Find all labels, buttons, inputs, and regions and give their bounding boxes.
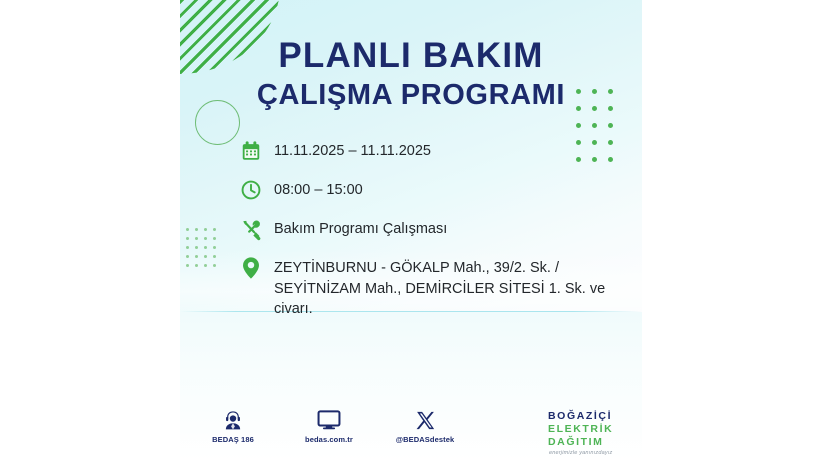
info-row-work-type: Bakım Programı Çalışması	[238, 216, 638, 242]
info-row-time: 08:00 – 15:00	[238, 177, 638, 203]
location-text: ZEYTİNBURNU - GÖKALP Mah., 39/2. Sk. / S…	[274, 255, 638, 320]
brand-line-2: ELEKTRİK	[548, 423, 613, 436]
tools-icon	[238, 216, 264, 242]
dot	[186, 264, 189, 267]
dot	[213, 264, 216, 267]
location-text-line-2: SEYİTNİZAM Mah., DEMİRCİLER SİTESİ 1. Sk…	[274, 279, 638, 320]
dot	[204, 255, 207, 258]
bedas-logo: BOĞAZİÇİ ELEKTRİK DAĞITIM enerjimizle ya…	[548, 410, 613, 456]
headset-agent-icon	[198, 405, 268, 431]
dot	[195, 237, 198, 240]
dot	[195, 255, 198, 258]
poster-heading: PLANLI BAKIM ÇALIŞMA PROGRAMI	[180, 38, 642, 113]
dot	[213, 246, 216, 249]
dot	[204, 228, 207, 231]
title-line-2: ÇALIŞMA PROGRAMI	[180, 77, 642, 113]
contact-x-label: @BEDASdestek	[390, 435, 460, 444]
contact-website-label: bedas.com.tr	[294, 435, 364, 444]
contact-x-handle[interactable]: @BEDASdestek	[390, 405, 460, 444]
dot-grid-left-decoration	[186, 228, 222, 273]
time-range-text: 08:00 – 15:00	[274, 177, 363, 201]
dot	[195, 246, 198, 249]
dot	[204, 264, 207, 267]
dot	[204, 237, 207, 240]
dot	[608, 123, 613, 128]
date-range-text: 11.11.2025 – 11.11.2025	[274, 138, 431, 162]
contact-phone-label: BEDAŞ 186	[198, 435, 268, 444]
dot	[204, 246, 207, 249]
work-type-text: Bakım Programı Çalışması	[274, 216, 447, 240]
dot	[186, 246, 189, 249]
contact-phone[interactable]: BEDAŞ 186	[198, 405, 268, 444]
dot	[186, 255, 189, 258]
brand-tagline: enerjimizle yanınızdayız	[549, 450, 613, 456]
info-row-date: 11.11.2025 – 11.11.2025	[238, 138, 638, 164]
dot	[195, 228, 198, 231]
planned-maintenance-poster: PLANLI BAKIM ÇALIŞMA PROGRAMI	[180, 0, 642, 461]
monitor-icon	[294, 405, 364, 431]
contact-website[interactable]: bedas.com.tr	[294, 405, 364, 444]
dot	[592, 123, 597, 128]
brand-line-1: BOĞAZİÇİ	[548, 410, 613, 423]
brand-line-3: DAĞITIM	[548, 436, 613, 449]
dot	[576, 123, 581, 128]
dot	[213, 255, 216, 258]
clock-icon	[238, 177, 264, 203]
info-list: 11.11.2025 – 11.11.2025 08:00 – 15:00	[238, 138, 638, 333]
dot	[186, 228, 189, 231]
dot	[195, 264, 198, 267]
info-row-location: ZEYTİNBURNU - GÖKALP Mah., 39/2. Sk. / S…	[238, 255, 638, 320]
location-text-line-1: ZEYTİNBURNU - GÖKALP Mah., 39/2. Sk. /	[274, 258, 638, 279]
footer-contact-list: BEDAŞ 186 bedas.com.tr	[198, 405, 460, 444]
title-line-1: PLANLI BAKIM	[180, 38, 642, 73]
dot	[213, 237, 216, 240]
x-twitter-icon	[390, 405, 460, 431]
dot	[186, 237, 189, 240]
screenshot-canvas: PLANLI BAKIM ÇALIŞMA PROGRAMI	[0, 0, 820, 461]
map-pin-icon	[238, 255, 264, 281]
calendar-icon	[238, 138, 264, 164]
dot	[213, 228, 216, 231]
